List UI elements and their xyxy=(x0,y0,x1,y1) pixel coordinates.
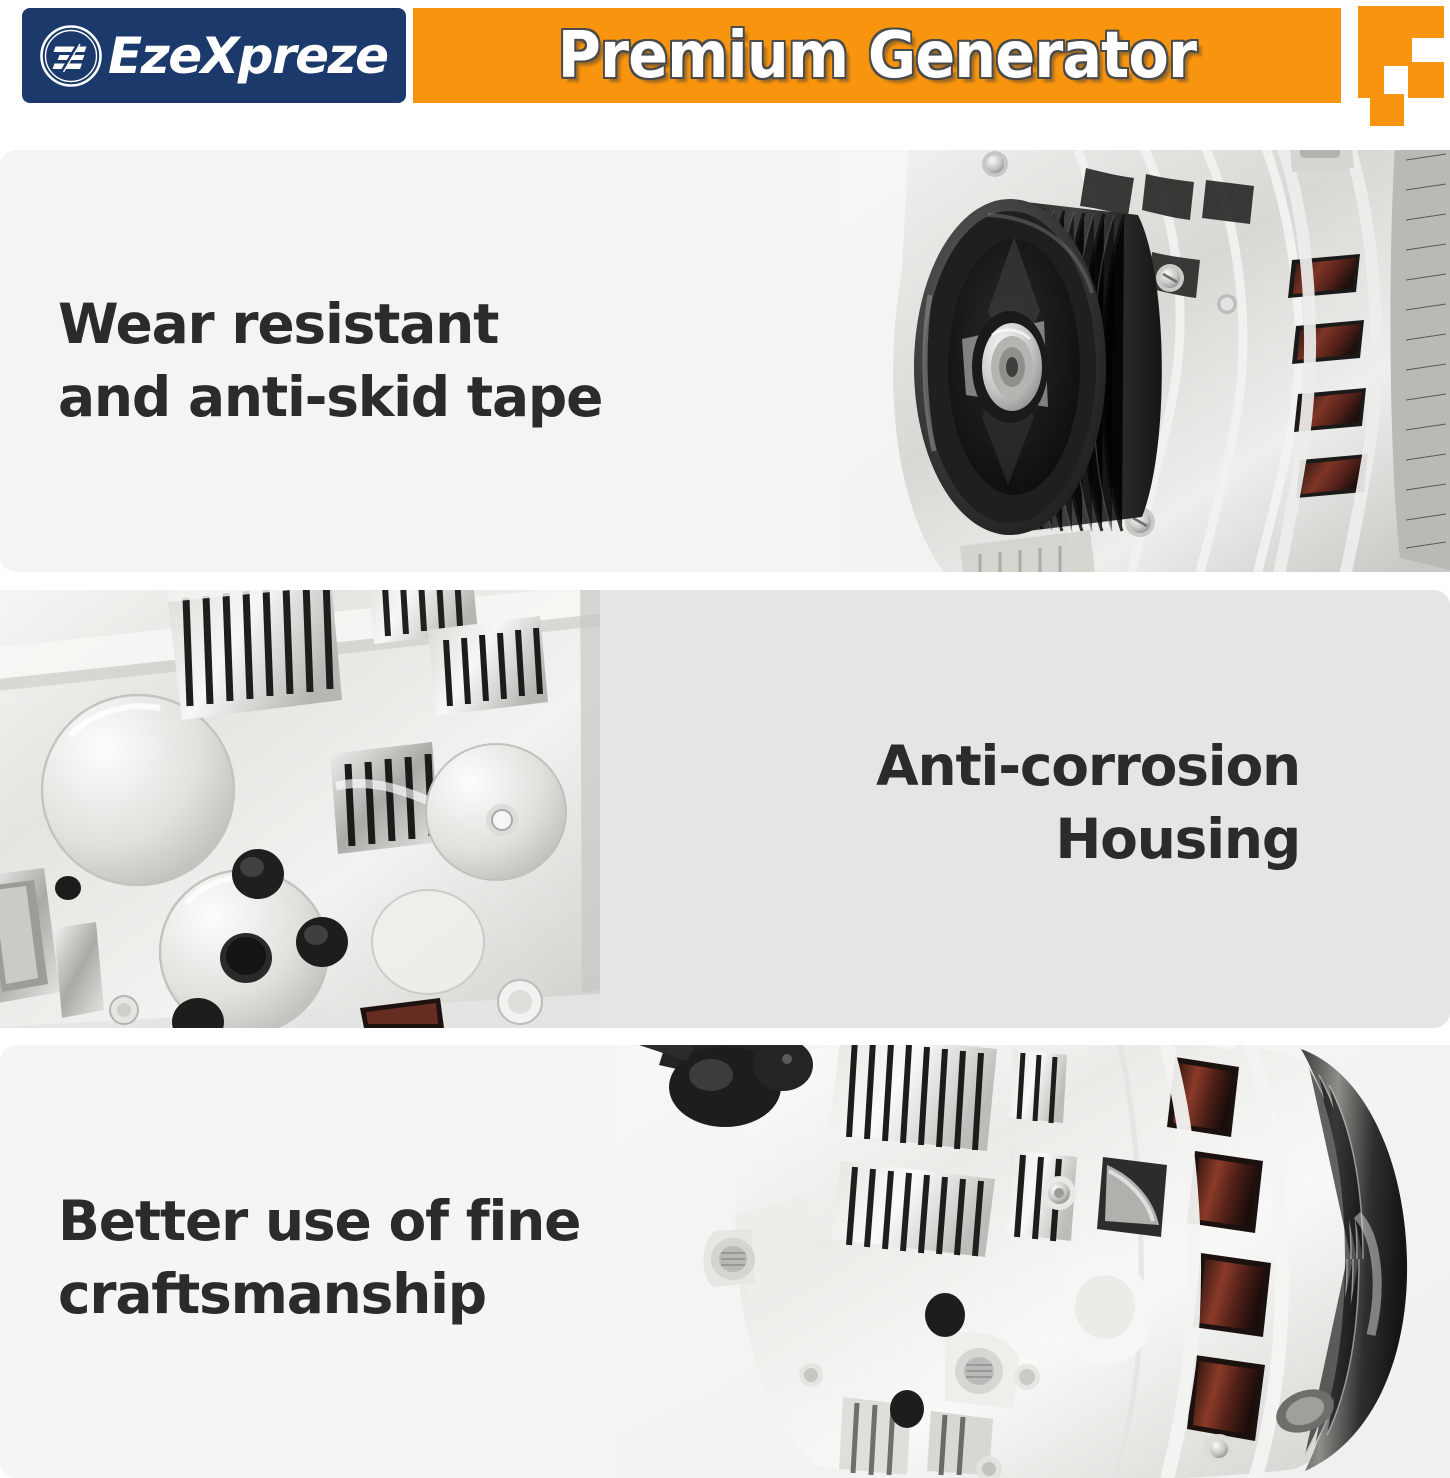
alternator-full-body-photo xyxy=(615,1045,1450,1478)
title-banner-box: Premium Generator xyxy=(413,8,1341,103)
product-infographic-page: EzeXpreze Premium Generator xyxy=(0,0,1450,1478)
alternator-housing-photo xyxy=(0,590,600,1028)
page-title: Premium Generator xyxy=(558,24,1196,88)
ezexpreze-z-monogram-icon xyxy=(38,23,104,89)
orange-block-motif-icon xyxy=(1356,2,1450,128)
alternator-pulley-photo xyxy=(840,150,1450,572)
brand-logo-box: EzeXpreze xyxy=(22,8,406,103)
header-banner: EzeXpreze Premium Generator xyxy=(0,0,1450,120)
panel-caption-fine-craftsmanship: Better use of fine craftsmanship xyxy=(58,1185,580,1331)
brand-name-text: EzeXpreze xyxy=(108,31,388,81)
panel-caption-wear-resistant: Wear resistant and anti-skid tape xyxy=(58,288,602,434)
panel-caption-anti-corrosion: Anti-corrosion Housing xyxy=(876,730,1300,876)
